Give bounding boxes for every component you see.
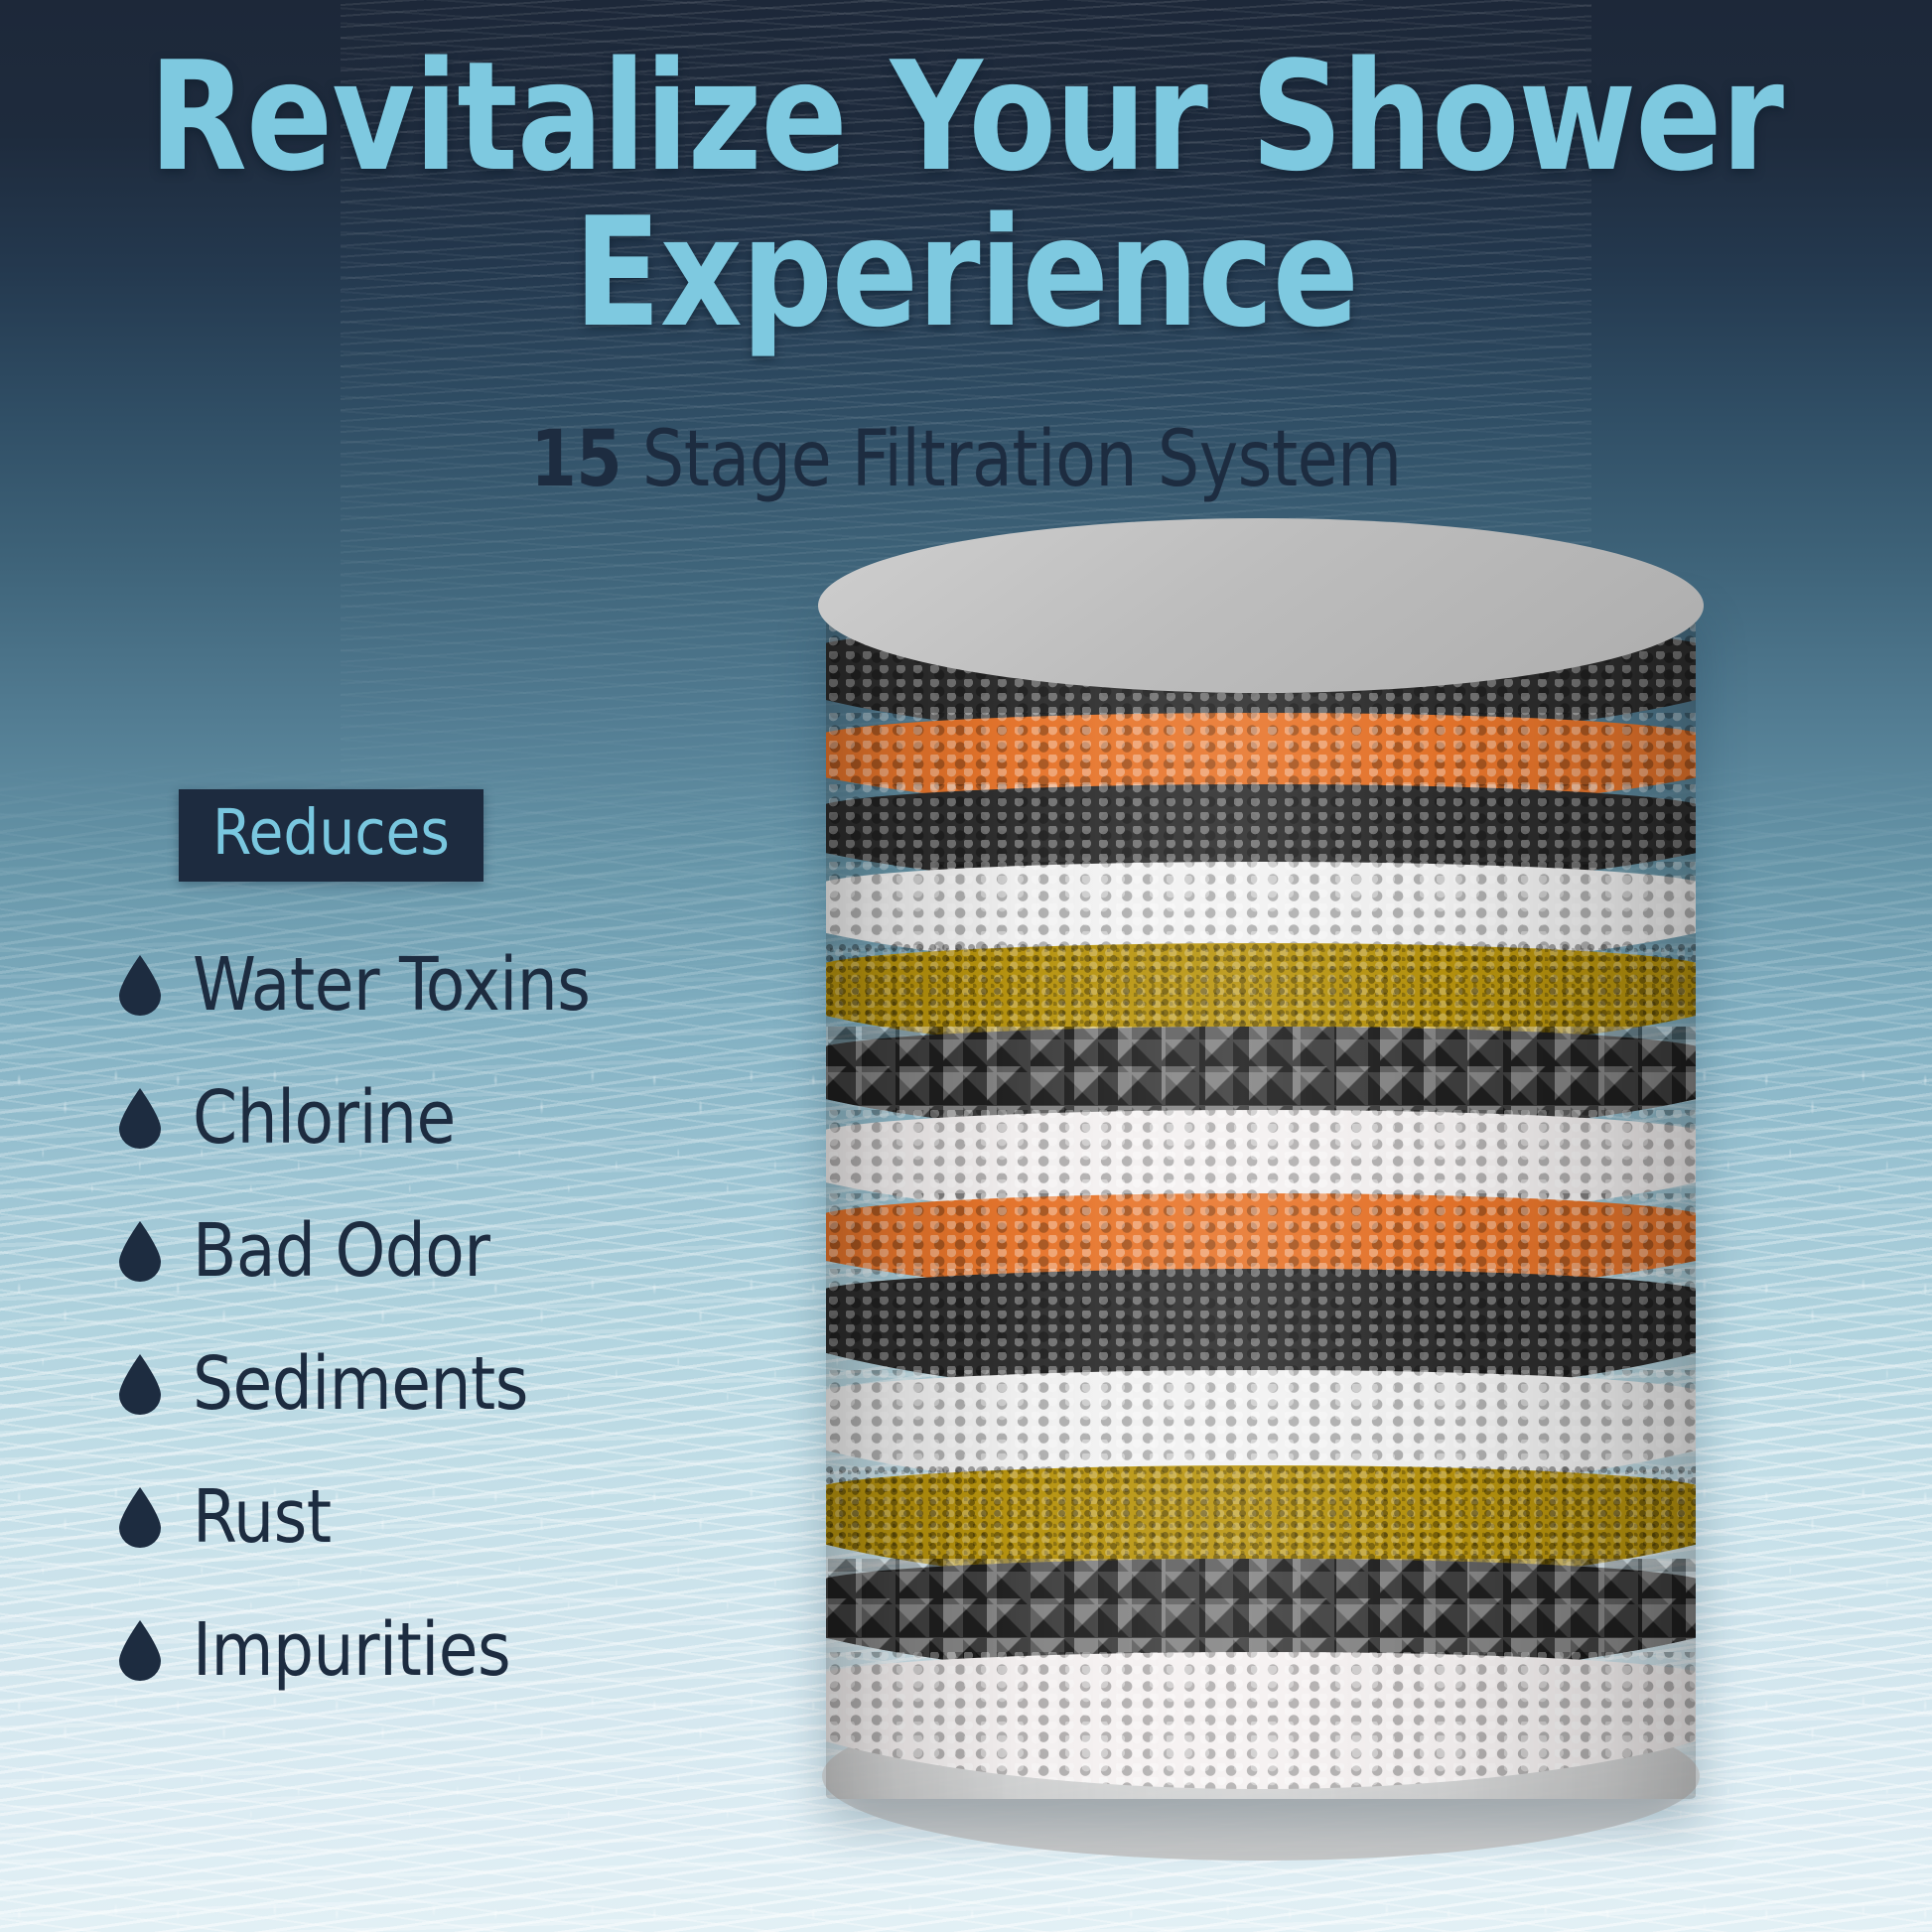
cartridge-top-cap <box>818 518 1704 749</box>
list-item: Water Toxins <box>117 933 753 1036</box>
cartridge-cap-disc <box>818 518 1704 693</box>
poster-canvas: Revitalize Your Shower Experience 15 Sta… <box>0 0 1932 1932</box>
list-item-label: Rust <box>193 1474 332 1560</box>
subtitle-rest: Stage Filtration System <box>621 415 1401 504</box>
water-drop-icon <box>117 1486 163 1548</box>
list-item-label: Bad Odor <box>193 1208 489 1294</box>
reduces-badge: Reduces <box>179 789 483 882</box>
list-item-label: Sediments <box>193 1341 528 1427</box>
list-item-label: Impurities <box>193 1607 510 1693</box>
list-item: Bad Odor <box>117 1199 753 1303</box>
list-item: Chlorine <box>117 1066 753 1170</box>
list-item-label: Chlorine <box>193 1075 456 1161</box>
stage-count: 15 <box>530 415 621 504</box>
list-item-label: Water Toxins <box>193 942 590 1028</box>
reduces-list: Water Toxins Chlorine Bad Odor Sediments <box>117 933 753 1731</box>
water-drop-icon <box>117 1353 163 1415</box>
list-item: Rust <box>117 1465 753 1569</box>
water-drop-icon <box>117 1087 163 1149</box>
filter-layer-ceramic-ball-2 <box>826 1652 1696 1789</box>
page-title: Revitalize Your Shower Experience <box>58 40 1873 350</box>
cartridge-layer-stack <box>826 596 1696 1799</box>
water-drop-icon <box>117 954 163 1016</box>
water-drop-icon <box>117 1619 163 1681</box>
ceramic-ball-2-texture <box>826 1652 1696 1789</box>
water-drop-icon <box>117 1220 163 1282</box>
list-item: Impurities <box>117 1598 753 1702</box>
filter-cartridge-image <box>826 596 1696 1799</box>
page-subtitle: 15 Stage Filtration System <box>49 415 1884 504</box>
list-item: Sediments <box>117 1332 753 1436</box>
